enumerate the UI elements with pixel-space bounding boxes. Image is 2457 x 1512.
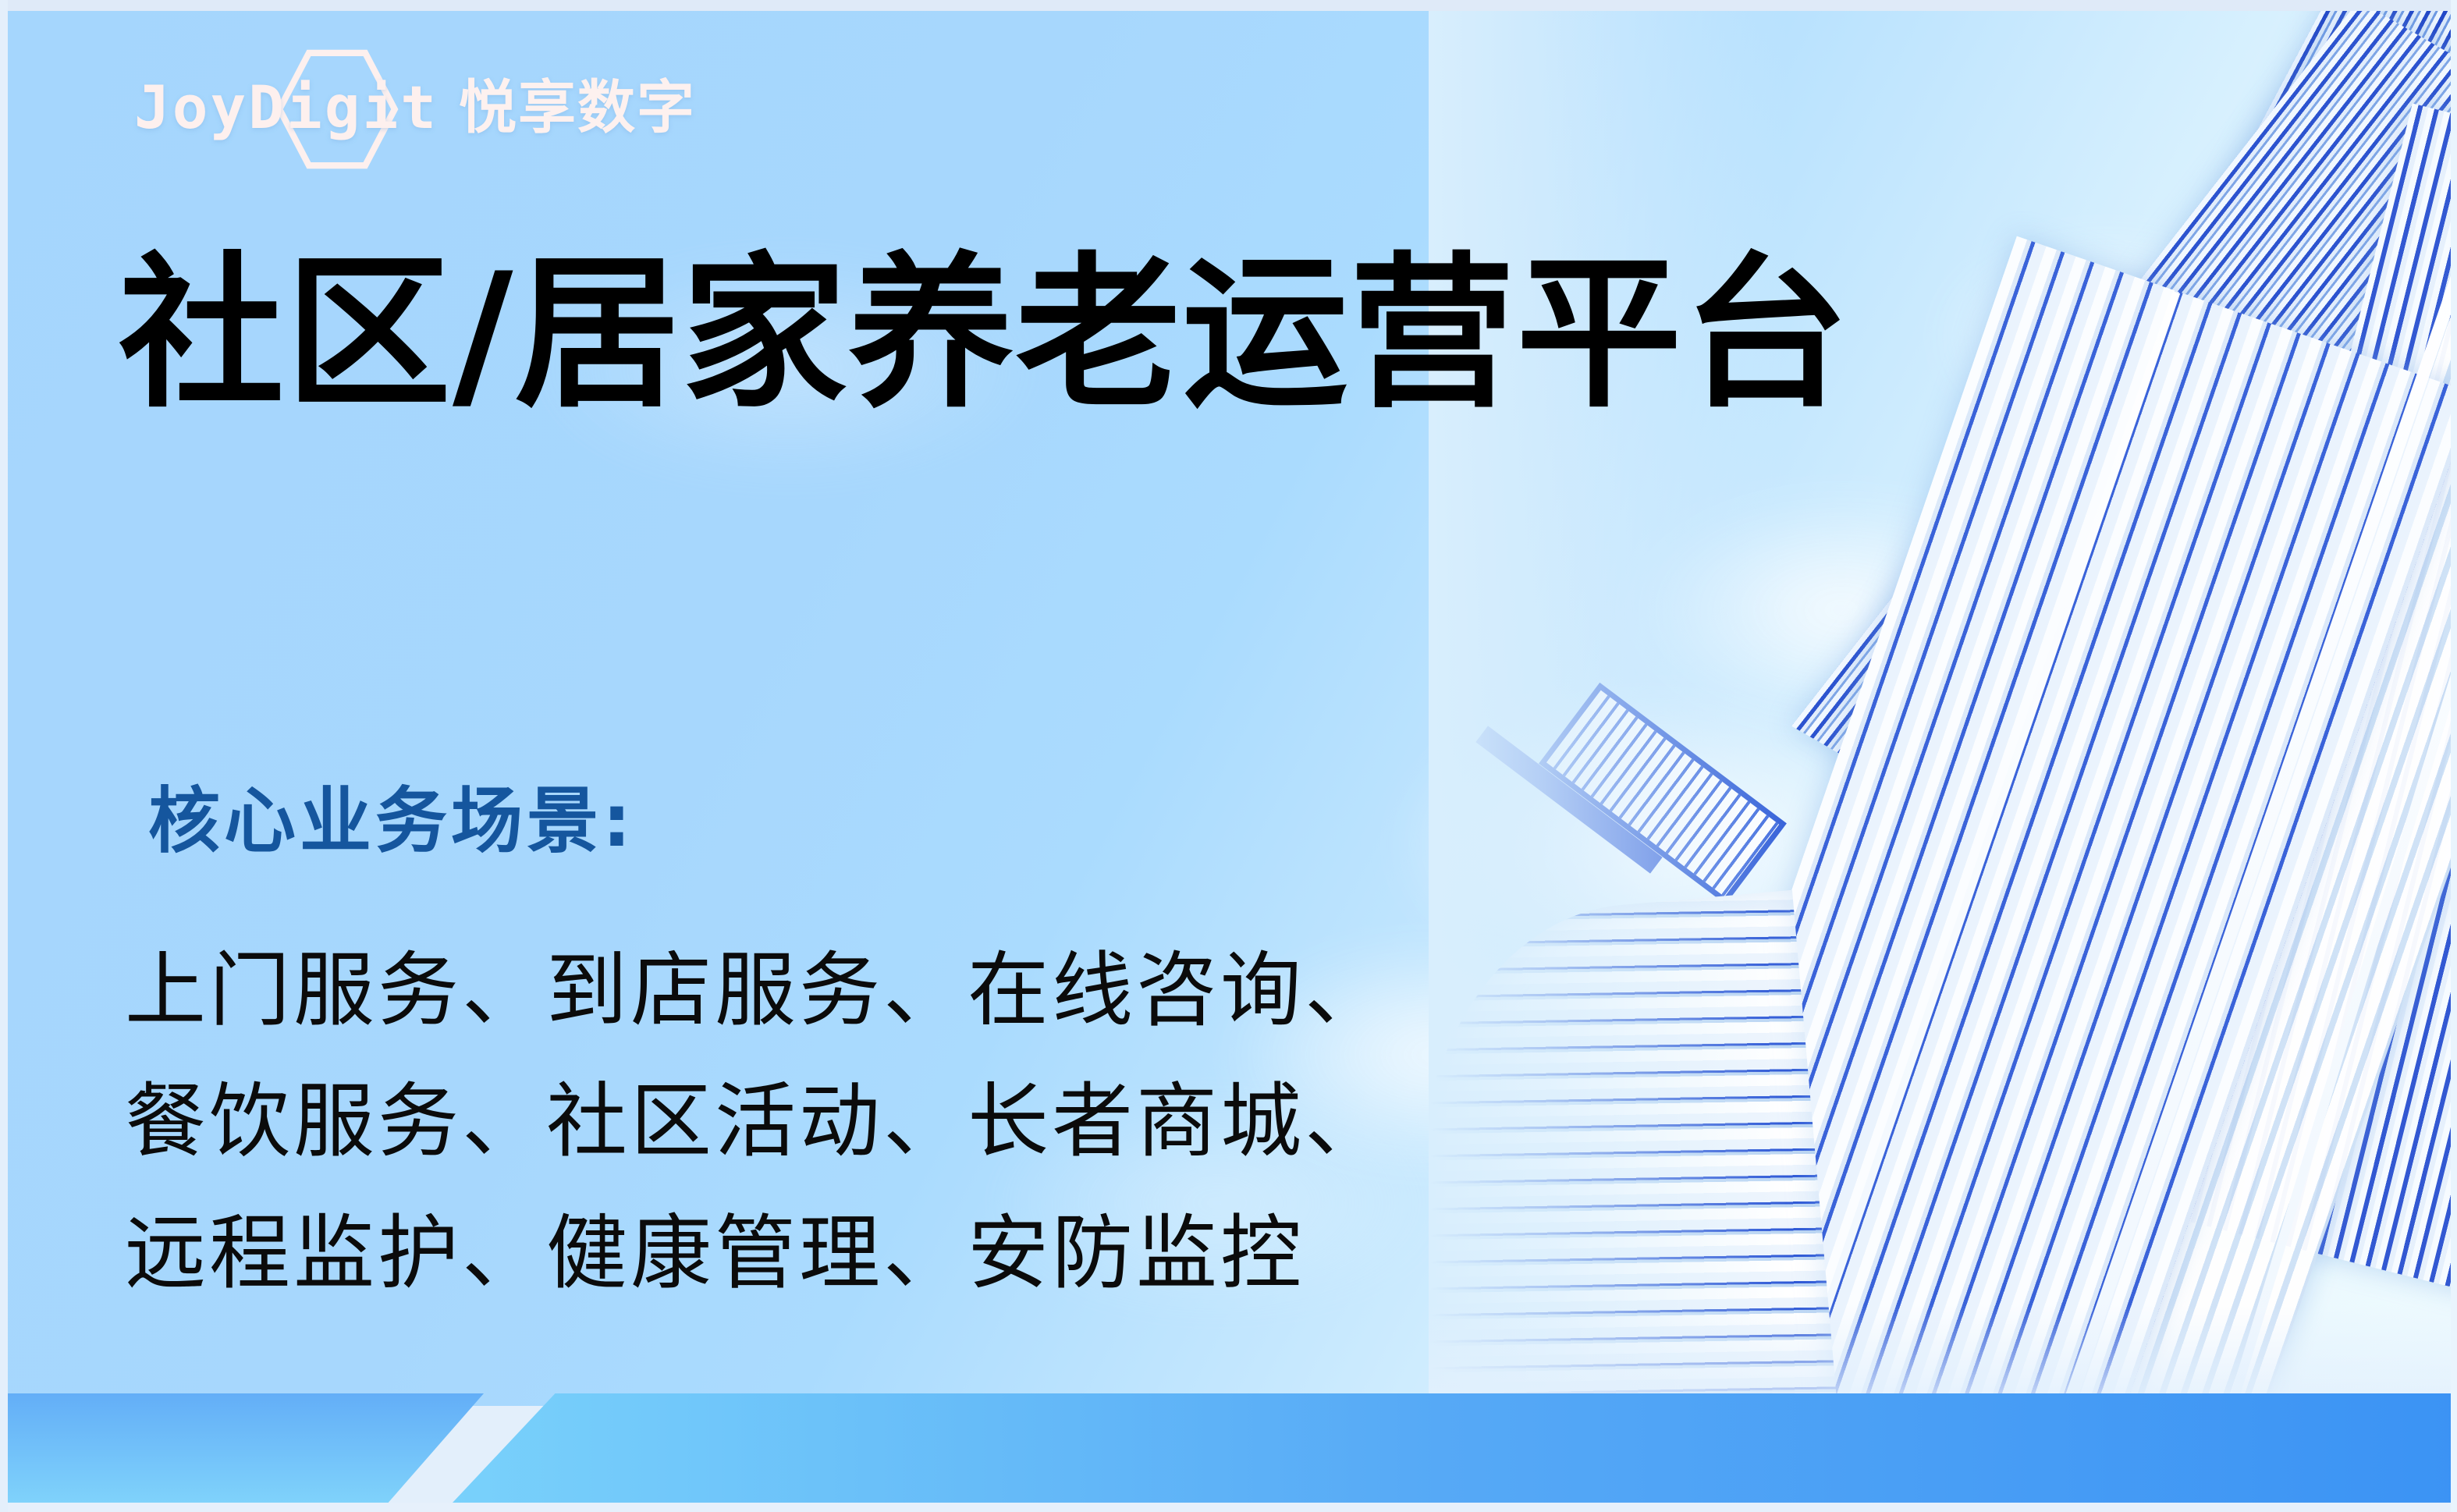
brand-logo: JoyDigit 悦享数字 bbox=[134, 64, 696, 151]
section-heading: 核心业务场景: bbox=[148, 780, 635, 863]
slide-canvas: JoyDigit 悦享数字 社区/居家养老运营平台 核心业务场景: 上门服务、到… bbox=[0, 0, 2457, 1512]
slide-edge-right bbox=[2451, 0, 2457, 1512]
building-canopy bbox=[1539, 683, 1787, 904]
scenario-list: 上门服务、到店服务、在线咨询、 餐饮服务、社区活动、长者商城、 远程监护、健康管… bbox=[125, 925, 1389, 1319]
building-canopy-bar bbox=[1475, 726, 1662, 873]
scenario-line: 远程监护、健康管理、安防监控 bbox=[125, 1187, 1389, 1319]
bottom-decor-band bbox=[0, 1393, 2457, 1503]
scenario-line: 上门服务、到店服务、在线咨询、 bbox=[125, 925, 1389, 1056]
skyscraper-photo bbox=[1429, 9, 2451, 1406]
slide-edge-bottom bbox=[0, 1503, 2457, 1512]
brand-wordmark: JoyDigit bbox=[134, 78, 438, 137]
slide-edge-left bbox=[0, 0, 8, 1512]
photo-bottom-fade bbox=[1429, 1304, 2451, 1406]
scenario-line: 餐饮服务、社区活动、长者商城、 bbox=[125, 1056, 1389, 1187]
slide-edge-top bbox=[0, 0, 2457, 11]
page-title: 社区/居家养老运营平台 bbox=[119, 247, 1850, 422]
band-right-parallelogram bbox=[453, 1393, 2457, 1503]
band-left-parallelogram bbox=[0, 1393, 484, 1503]
brand-name-cn: 悦享数字 bbox=[459, 79, 696, 137]
